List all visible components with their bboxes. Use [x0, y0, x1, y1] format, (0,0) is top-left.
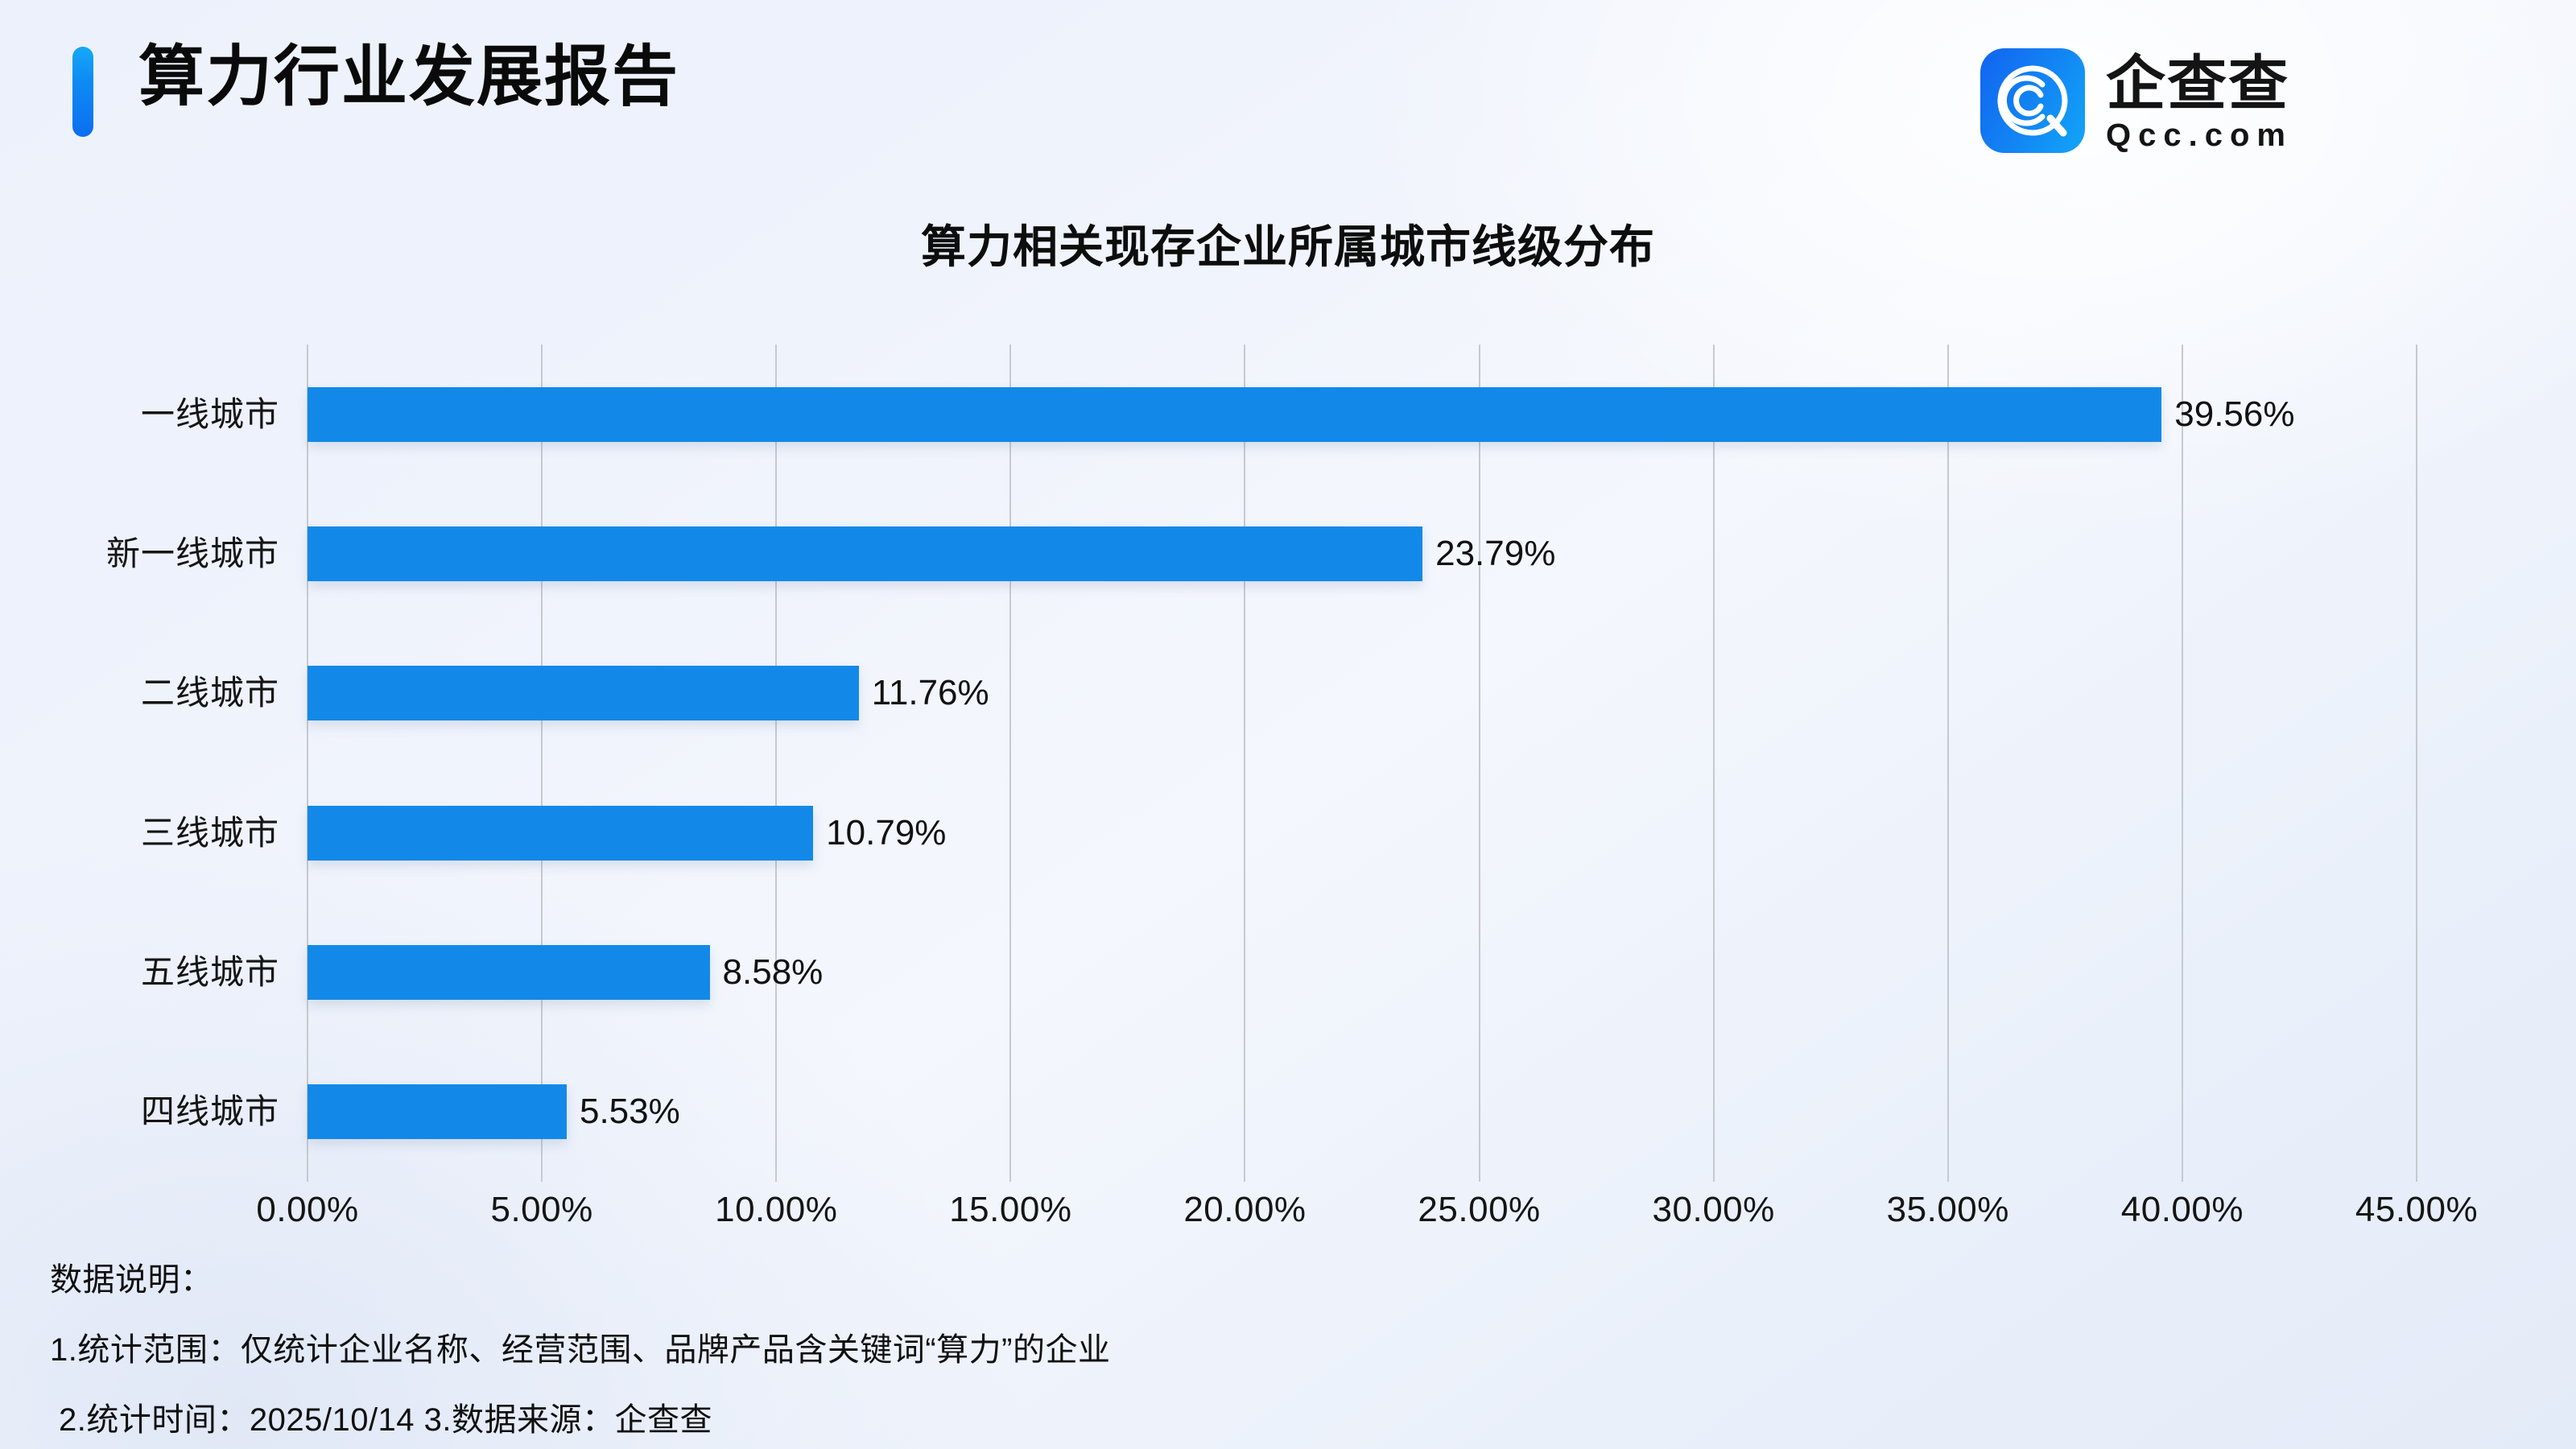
gridline	[2182, 345, 2183, 1182]
bar	[308, 526, 1422, 581]
bar-value-label: 8.58%	[723, 945, 824, 1000]
bar-value-label: 23.79%	[1435, 526, 1555, 581]
x-tick-label: 45.00%	[2355, 1190, 2478, 1230]
report-page: 算力行业发展报告 企查查 Qcc.com 算力相关现存企业所属城市线级分布 一线…	[0, 0, 2576, 1449]
bar	[308, 387, 2161, 442]
x-tick-label: 15.00%	[949, 1190, 1071, 1230]
bar	[308, 666, 859, 720]
bar-value-label: 5.53%	[580, 1084, 680, 1139]
gridline	[1713, 345, 1715, 1182]
x-tick-label: 35.00%	[1887, 1190, 2009, 1230]
y-category-label: 三线城市	[141, 806, 279, 861]
y-category-label: 新一线城市	[106, 526, 279, 581]
gridline	[1009, 345, 1011, 1182]
gridline	[1244, 345, 1245, 1182]
footer-note-2: 2.统计时间：2025/10/14 3.数据来源：企查查	[50, 1404, 2143, 1436]
bar-value-label: 10.79%	[826, 806, 946, 861]
x-tick-label: 20.00%	[1183, 1190, 1306, 1230]
x-tick-label: 10.00%	[715, 1190, 837, 1230]
x-tick-label: 40.00%	[2121, 1190, 2244, 1230]
bar	[308, 806, 813, 861]
y-category-label: 一线城市	[141, 387, 279, 442]
y-category-label: 二线城市	[141, 666, 279, 720]
bar-value-label: 11.76%	[872, 666, 989, 720]
y-category-label: 五线城市	[141, 945, 279, 1000]
footer-heading: 数据说明：	[50, 1264, 2143, 1296]
chart-plot-area: 39.56%23.79%11.76%10.79%8.58%5.53%	[308, 345, 2417, 1182]
x-tick-label: 25.00%	[1418, 1190, 1540, 1230]
gridline	[307, 345, 308, 1182]
y-category-label: 四线城市	[141, 1084, 279, 1139]
x-tick-label: 30.00%	[1653, 1190, 1775, 1230]
footer-notes: 数据说明： 1.统计范围：仅统计企业名称、经营范围、品牌产品含关键词“算力”的企…	[50, 1264, 2143, 1436]
chart-x-axis: 0.00%5.00%10.00%15.00%20.00%25.00%30.00%…	[308, 1190, 2417, 1246]
gridline	[775, 345, 777, 1182]
title-accent-bar	[72, 47, 93, 137]
chart-y-axis: 一线城市新一线城市二线城市三线城市五线城市四线城市	[32, 345, 282, 1182]
qcc-logo-icon	[1980, 48, 2085, 153]
bar	[308, 945, 710, 1000]
logo-cn-name: 企查查	[2106, 53, 2293, 115]
chart-title: 算力相关现存企业所属城市线级分布	[0, 211, 2576, 276]
x-tick-label: 5.00%	[490, 1190, 592, 1230]
gridline	[2416, 345, 2417, 1182]
gridline	[1947, 345, 1949, 1182]
brand-logo: 企查查 Qcc.com	[1980, 48, 2293, 153]
x-tick-label: 0.00%	[256, 1190, 358, 1230]
page-title: 算力行业发展报告	[138, 36, 679, 119]
gridline	[541, 345, 543, 1182]
gridline	[1479, 345, 1480, 1182]
report-header: 算力行业发展报告 企查查 Qcc.com	[0, 0, 2576, 185]
bar	[308, 1084, 567, 1139]
logo-en-name: Qcc.com	[2106, 118, 2293, 152]
bar-value-label: 39.56%	[2174, 387, 2294, 442]
footer-note-1: 1.统计范围：仅统计企业名称、经营范围、品牌产品含关键词“算力”的企业	[50, 1334, 2143, 1366]
logo-text: 企查查 Qcc.com	[2106, 48, 2293, 152]
